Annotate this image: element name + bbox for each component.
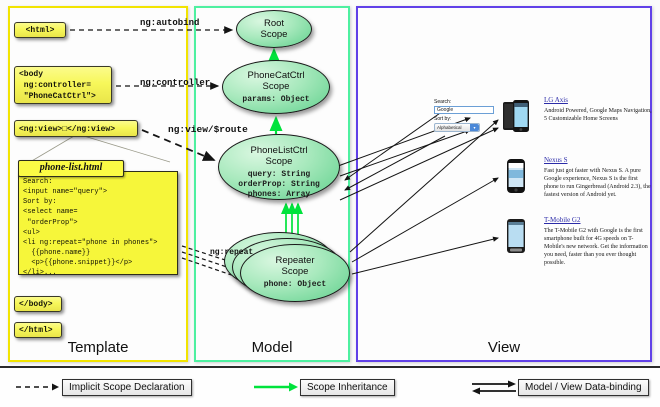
legend-label-data-binding: Model / View Data-binding [518, 379, 649, 396]
legend-label-implicit-scope: Implicit Scope Declaration [62, 379, 192, 396]
sort-select[interactable]: Alphabetical ▾ [434, 123, 480, 132]
phone-thumbnail-icon [502, 98, 530, 134]
dashed-arrow-icon [14, 381, 62, 393]
template-html-tag: <html> [14, 22, 66, 38]
legend: Implicit Scope Declaration Scope Inherit… [0, 366, 660, 407]
scope-phonelistctrl: PhoneListCtrl Scope query: String orderP… [218, 134, 340, 200]
label-ng-view-route: ng:view/$route [168, 124, 248, 135]
phone-snippet: Fast just got faster with Nexus S. A pur… [544, 167, 652, 199]
scope-phonecatctrl: PhoneCatCtrl Scope params: Object [222, 60, 330, 114]
view-sort-label: Sort by: [434, 116, 496, 122]
scope-repeater-title: Repeater Scope [241, 255, 349, 277]
legend-label-scope-inheritance: Scope Inheritance [300, 379, 395, 396]
column-label-model: Model [196, 339, 348, 356]
column-label-template: Template [10, 339, 186, 356]
phone-thumbnail-icon [502, 158, 530, 194]
green-arrow-icon [252, 381, 300, 393]
phone-name-link[interactable]: LG Axis [544, 96, 652, 105]
sort-select-value: Alphabetical [437, 125, 462, 130]
phone-name-link[interactable]: T-Mobile G2 [544, 216, 652, 225]
scope-repeater: Repeater Scope phone: Object [240, 244, 350, 302]
label-ng-autobind: ng:autobind [140, 18, 199, 28]
bidirectional-arrow-icon [470, 379, 518, 395]
diagram-canvas: Template Model View [0, 0, 660, 405]
scope-repeater-props: phone: Object [241, 280, 349, 290]
list-item[interactable]: Nexus S Fast just got faster with Nexus … [502, 156, 652, 199]
phone-snippet: Android Powered, Google Maps Navigation,… [544, 107, 652, 123]
column-label-view: View [358, 339, 650, 356]
list-item[interactable]: LG Axis Android Powered, Google Maps Nav… [502, 96, 652, 123]
list-item[interactable]: T-Mobile G2 The T-Mobile G2 with Google … [502, 216, 652, 267]
scope-phonelistctrl-title: PhoneListCtrl Scope [219, 145, 339, 167]
phone-thumbnail-icon [502, 218, 530, 254]
search-input[interactable]: Google [434, 106, 494, 114]
scope-phonelistctrl-props: query: String orderProp: String phones: … [219, 170, 339, 200]
template-html-close-tag: </html> [14, 322, 62, 338]
scope-phonecatctrl-props: params: Object [223, 95, 329, 105]
phone-list-template-code: Search: <input name="query"> Sort by: <s… [18, 171, 178, 275]
scope-root-title: Root Scope [237, 18, 311, 40]
template-ngview-tag: <ng:view>□</ng:view> [14, 120, 138, 137]
template-body-tag: <body ng:controller= "PhoneCatCtrl"> [14, 66, 112, 104]
template-body-close-tag: </body> [14, 296, 62, 312]
label-ng-repeat: ng:repeat [210, 248, 253, 257]
view-search-form: Search: Google Sort by: Alphabetical ▾ [434, 99, 496, 132]
scope-root: Root Scope [236, 10, 312, 48]
scope-phonecatctrl-title: PhoneCatCtrl Scope [223, 70, 329, 92]
phone-list-template-filename: phone-list.html [18, 160, 124, 177]
chevron-down-icon: ▾ [470, 124, 479, 131]
phone-name-link[interactable]: Nexus S [544, 156, 652, 165]
legend-item-scope-inheritance: Scope Inheritance [252, 378, 395, 396]
legend-item-data-binding: Model / View Data-binding [470, 378, 649, 396]
phone-snippet: The T-Mobile G2 with Google is the first… [544, 227, 652, 267]
view-search-label: Search: [434, 99, 496, 105]
legend-item-implicit-scope: Implicit Scope Declaration [14, 378, 192, 396]
phone-list-template-callout: Search: <input name="query"> Sort by: <s… [18, 160, 178, 288]
label-ng-controller: ng:controller [140, 78, 210, 88]
